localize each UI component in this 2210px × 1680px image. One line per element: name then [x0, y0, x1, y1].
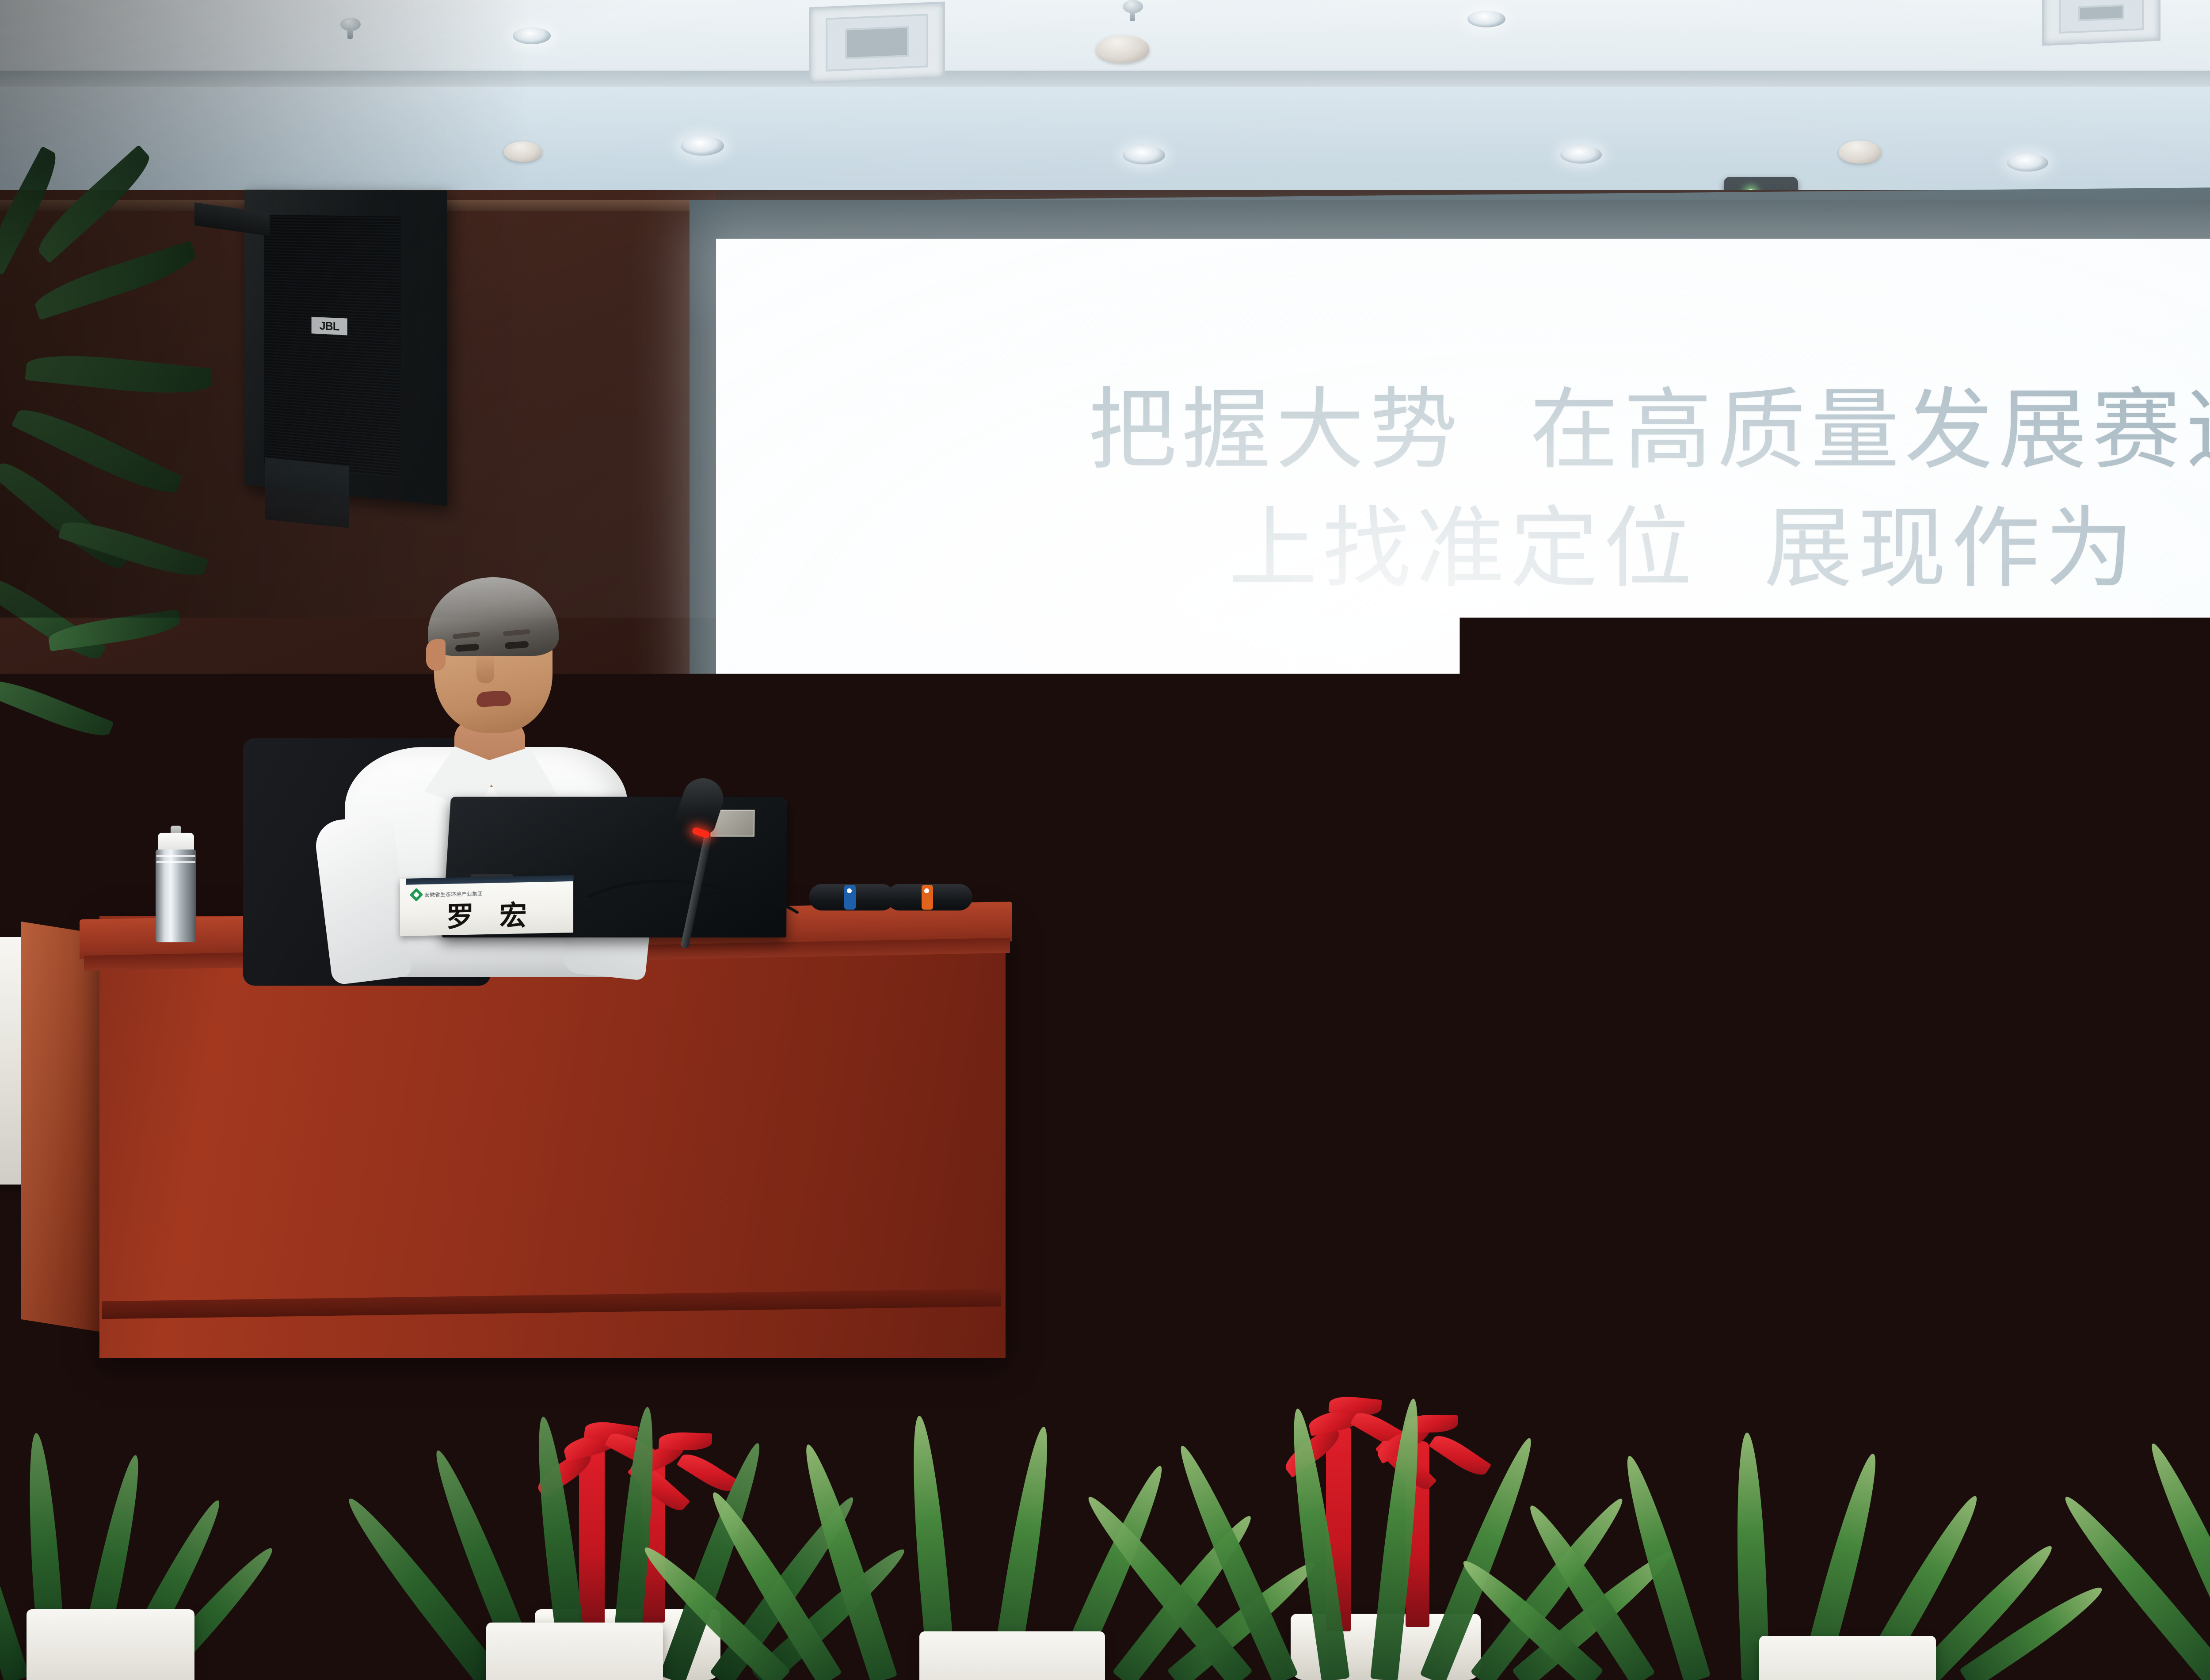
jbl-logo: JBL [312, 317, 347, 335]
downlight-icon [681, 136, 724, 156]
palm-leaf [0, 673, 114, 744]
presenter-mouth [476, 690, 511, 707]
presenter-nose [476, 651, 494, 683]
handheld-mic-pair [809, 876, 994, 929]
plant-pot [486, 1623, 663, 1680]
smoke-detector-icon [504, 141, 542, 162]
hvac-vent-icon [2042, 0, 2160, 46]
downlight-icon [1560, 146, 1602, 164]
gooseneck-microphone [606, 778, 765, 946]
slide-date: 2024.4 [1616, 710, 1752, 747]
panel-seam [1741, 1061, 1747, 1246]
bromeliad-petal [659, 1432, 712, 1451]
presenter-hair [428, 577, 559, 656]
foreground-plant-row [0, 1251, 2210, 1680]
nameplate-org-block: 安徽省生态环境产业集团 [412, 888, 483, 899]
downlight-icon [1467, 11, 1505, 27]
handheld-mic-blue [809, 884, 895, 910]
mic-head [674, 773, 729, 836]
org-logo-icon [409, 888, 423, 902]
thermos-body [156, 850, 196, 942]
downlight-icon [513, 27, 551, 44]
smoke-detector-icon [1096, 35, 1149, 63]
sprinkler-head-icon [1123, 0, 1143, 13]
bromeliad-petal [677, 1448, 739, 1498]
slide-author: 罗宏 [1654, 660, 1713, 700]
handheld-mic-orange [886, 884, 972, 910]
speaker-grille [264, 215, 401, 478]
thermos-ring [156, 855, 195, 857]
thermos-flask [156, 826, 196, 941]
mic-band-blue [844, 885, 856, 910]
smoke-detector-icon [1839, 141, 1881, 164]
palm-leaf [47, 610, 182, 651]
slide-title-line-2: 上找准定位 展现作为 [1229, 490, 2139, 608]
speaker-mount-post [265, 457, 349, 528]
ceiling-soffit [0, 87, 2210, 193]
palm-leaf [0, 568, 107, 667]
palm-leaf [25, 349, 213, 400]
slide-meta-block: 罗宏 2024.4 [1616, 660, 1752, 747]
slide-title-line-1: 把握大势 在高质量发展赛道 [1088, 371, 2210, 490]
conference-hall-photo: JBL 把握大势 在高质量发展赛道 上找准定位 展现作为 罗宏 2024.4 [0, 0, 2210, 1680]
plant-cluster-bromeliad [2166, 1260, 2210, 1680]
mic-band-orange [922, 885, 933, 910]
plant-pot [919, 1631, 1105, 1680]
plant-leaf [0, 1466, 30, 1680]
bromeliad-petal [1429, 1430, 1491, 1481]
nameplate: 安徽省生态环境产业集团 罗宏 [400, 875, 573, 936]
nameplate-name-text: 罗宏 [400, 901, 573, 932]
plant-cluster [1569, 1362, 2011, 1680]
downlight-icon [1123, 146, 1165, 164]
thermos-ring [156, 861, 195, 863]
hvac-vent-icon [809, 2, 945, 84]
mic-stem [680, 835, 712, 949]
nameplate-org-text: 安徽省生态环境产业集团 [424, 890, 483, 898]
plant-pot [27, 1609, 194, 1680]
palm-leaf [58, 513, 209, 584]
plant-pot [1759, 1636, 1936, 1680]
sprinkler-head-icon [340, 18, 361, 31]
ceiling-step-molding [0, 71, 2210, 87]
downlight-icon [2007, 154, 2048, 171]
panel-seam [1193, 1061, 1199, 1246]
presenter-ear [426, 639, 446, 671]
plant-cluster [751, 1344, 1238, 1680]
